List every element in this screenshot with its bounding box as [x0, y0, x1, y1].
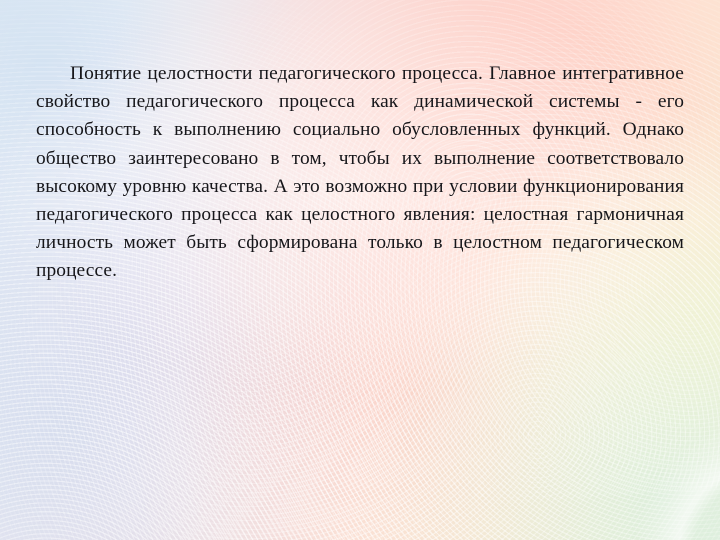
slide-body-paragraph: Понятие целостности педагогического проц…	[36, 60, 684, 286]
slide-canvas: Понятие целостности педагогического проц…	[0, 0, 720, 540]
paragraph-text: Понятие целостности педагогического проц…	[36, 63, 684, 281]
